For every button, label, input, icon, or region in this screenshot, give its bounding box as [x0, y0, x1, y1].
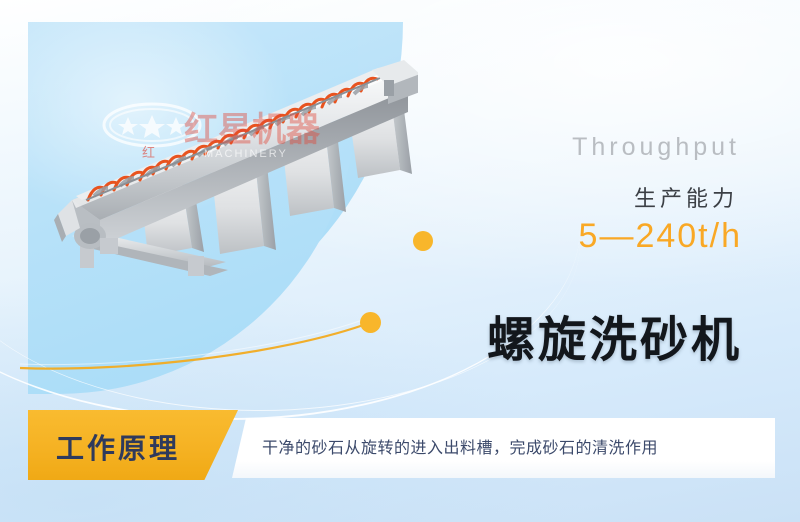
- decorative-dot-lower: [360, 312, 381, 333]
- decorative-dot-upper: [413, 231, 433, 251]
- brand-watermark: 红 红星机器 MACHINERY: [100, 95, 330, 175]
- banner-description-text: 干净的砂石从旋转的进入出料槽，完成砂石的清洗作用: [262, 434, 658, 458]
- spec-label-chinese: 生产能力: [634, 181, 738, 213]
- working-principle-banner: 工作原理 干净的砂石从旋转的进入出料槽，完成砂石的清洗作用: [0, 400, 800, 490]
- watermark-brand-cn: 红星机器: [184, 111, 321, 149]
- promo-banner-stage: 红 红星机器 MACHINERY Throughput 生产能力 5—240t/…: [0, 0, 800, 522]
- watermark-mark: 红: [142, 145, 155, 160]
- spec-value-capacity: 5—240t/h: [579, 217, 742, 256]
- spec-label-english: Throughput: [572, 133, 740, 162]
- banner-label-text: 工作原理: [56, 427, 180, 467]
- product-title: 螺旋洗砂机: [487, 300, 742, 370]
- watermark-brand-en: MACHINERY: [204, 148, 288, 160]
